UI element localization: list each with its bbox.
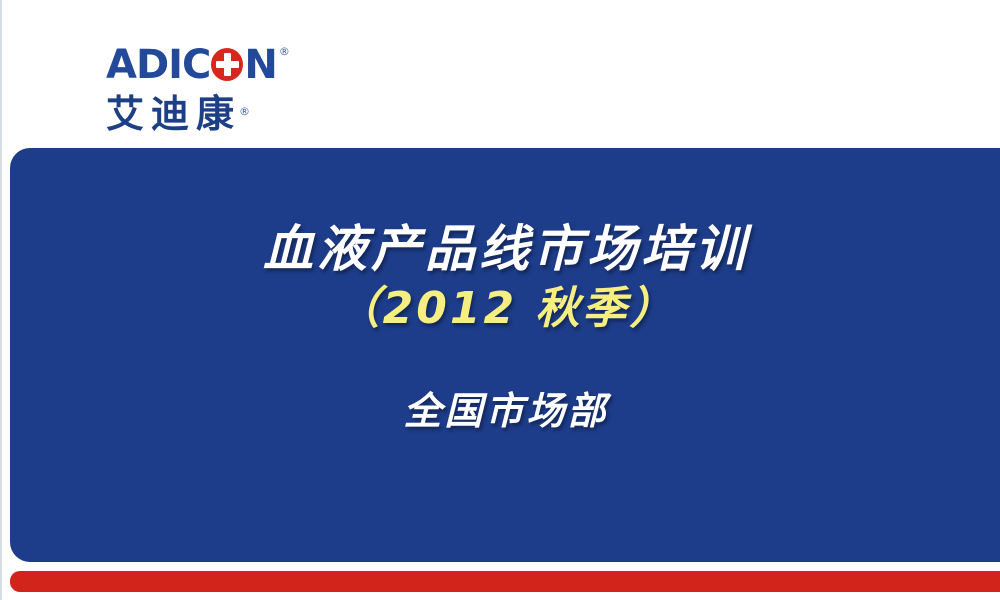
registered-trademark-icon: ®: [279, 46, 290, 57]
presentation-slide: ADIC N ® 艾迪康 ® 血液产品线市场培训 （2012 秋季） 全国市场部: [0, 0, 1000, 600]
title-block: 血液产品线市场培训 （2012 秋季） 全国市场部: [10, 148, 1000, 434]
logo-wordmark: ADIC N ®: [106, 44, 306, 88]
medical-cross-circle-icon: [210, 44, 244, 86]
accent-bar-red: [10, 571, 1000, 592]
slide-header: ADIC N ® 艾迪康 ®: [2, 0, 1000, 148]
department-name: 全国市场部: [10, 336, 1000, 434]
cross-horizontal-bar: [216, 61, 239, 68]
slide-footer-margin: [2, 592, 1000, 600]
logo-chinese-name-row: 艾迪康 ®: [106, 92, 306, 136]
chinese-registered-trademark-icon: ®: [239, 106, 250, 117]
logo-wordmark-text-part2: N: [244, 44, 276, 86]
page-subtitle: （2012 秋季）: [10, 278, 1000, 336]
title-panel: 血液产品线市场培训 （2012 秋季） 全国市场部: [10, 148, 1000, 562]
logo-chinese-name: 艾迪康: [106, 92, 241, 136]
adicon-logo: ADIC N ® 艾迪康 ®: [106, 44, 306, 136]
logo-wordmark-text-part1: ADIC: [106, 44, 210, 86]
page-title: 血液产品线市场培训: [10, 148, 1000, 278]
